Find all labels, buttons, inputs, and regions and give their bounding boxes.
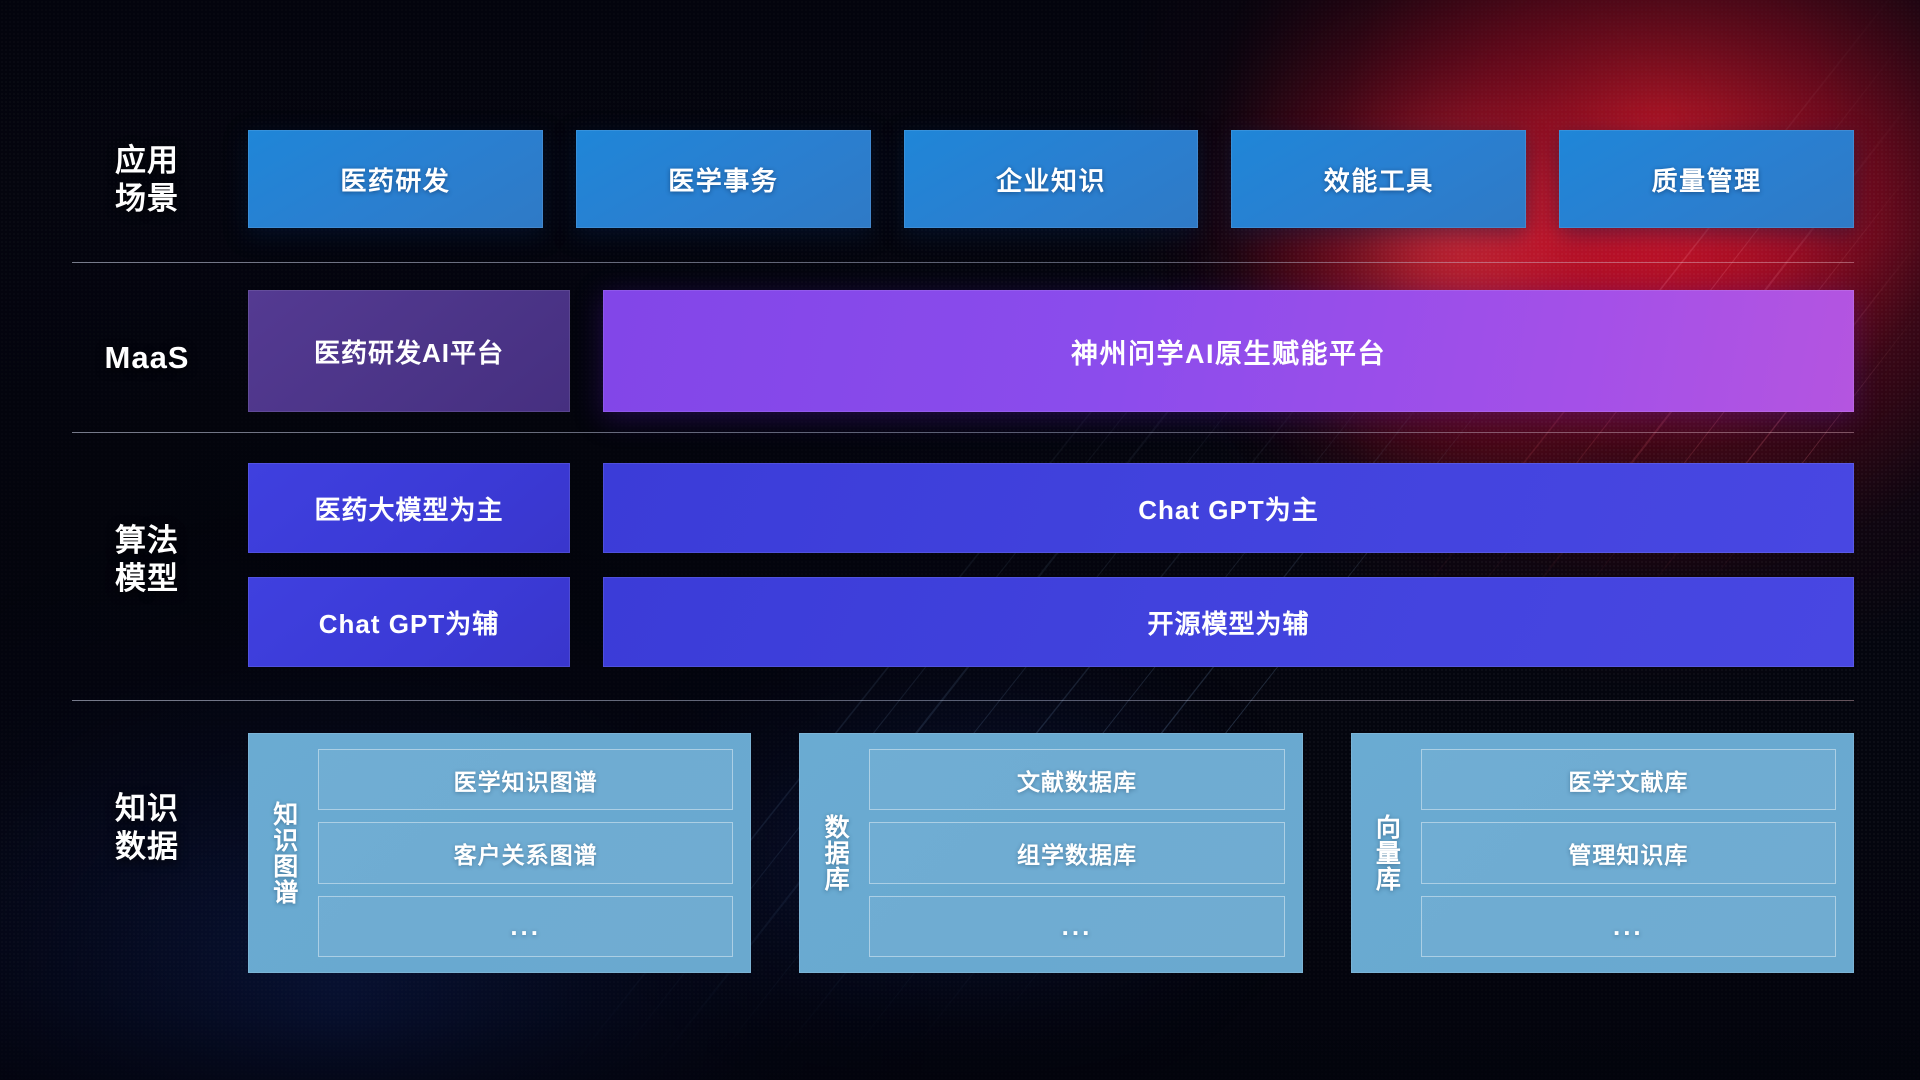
knowledge-item-omics-database[interactable]: 组学数据库 [869, 822, 1284, 883]
algo-card-opensource-secondary[interactable]: 开源模型为辅 [603, 577, 1854, 667]
knowledge-group-item-list: 文献数据库 组学数据库 ... [869, 749, 1284, 957]
knowledge-group-title: 数据库 [813, 749, 855, 957]
scene-card-label: 医药研发 [340, 161, 450, 198]
knowledge-group-knowledge-graph[interactable]: 知识图谱 医学知识图谱 客户关系图谱 ... [248, 733, 751, 973]
knowledge-item-label: 文献数据库 [1017, 763, 1137, 797]
knowledge-group-vector-store[interactable]: 向量库 医学文献库 管理知识库 ... [1351, 733, 1854, 973]
tier-label-maas: MaaS [72, 323, 232, 393]
scene-card-label: 企业知识 [996, 161, 1106, 198]
knowledge-item-more[interactable]: ... [869, 896, 1284, 957]
algo-card-label: Chat GPT为辅 [319, 604, 499, 641]
algorithm-model-label: 算法 模型 [72, 522, 222, 598]
algo-card-label: 开源模型为辅 [1147, 604, 1309, 641]
algorithm-model-row-primary: 医药大模型为主 Chat GPT为主 [248, 463, 1854, 553]
knowledge-item-label: 医学文献库 [1568, 763, 1688, 797]
knowledge-item-management-knowledge-store[interactable]: 管理知识库 [1421, 822, 1836, 883]
knowledge-item-label: 客户关系图谱 [454, 836, 598, 870]
knowledge-item-literature-database[interactable]: 文献数据库 [869, 749, 1284, 810]
knowledge-item-medical-literature-store[interactable]: 医学文献库 [1421, 749, 1836, 810]
knowledge-data-track: 知识图谱 医学知识图谱 客户关系图谱 ... 数据库 文献数据库 [248, 733, 1854, 973]
tier-label-application-scenario: 应用 场景 [72, 125, 232, 235]
scene-card-label: 质量管理 [1652, 161, 1762, 198]
scene-card-medical-affairs[interactable]: 医学事务 [576, 130, 871, 228]
maas-card-shenzhou-wenxue-platform[interactable]: 神州问学AI原生赋能平台 [603, 290, 1854, 412]
scene-card-efficiency-tools[interactable]: 效能工具 [1231, 130, 1526, 228]
maas-label: MaaS [72, 339, 222, 377]
divider-after-maas [72, 432, 1854, 433]
application-scenario-label: 应用 场景 [72, 142, 222, 218]
scene-card-medicine-rd[interactable]: 医药研发 [248, 130, 543, 228]
algo-card-medicine-llm-primary[interactable]: 医药大模型为主 [248, 463, 570, 553]
knowledge-item-label: ... [1062, 911, 1093, 942]
knowledge-item-medical-knowledge-graph[interactable]: 医学知识图谱 [318, 749, 733, 810]
knowledge-group-database[interactable]: 数据库 文献数据库 组学数据库 ... [799, 733, 1302, 973]
algo-card-label: Chat GPT为主 [1138, 490, 1318, 527]
scene-card-quality-management[interactable]: 质量管理 [1559, 130, 1854, 228]
tier-label-knowledge-data: 知识 数据 [72, 773, 232, 883]
knowledge-group-title: 向量库 [1365, 749, 1407, 957]
algorithm-model-row-secondary: Chat GPT为辅 开源模型为辅 [248, 577, 1854, 667]
knowledge-item-label: 医学知识图谱 [454, 763, 598, 797]
application-scenario-card-track: 医药研发 医学事务 企业知识 效能工具 质量管理 [248, 130, 1854, 228]
tier-label-algorithm-model: 算法 模型 [72, 505, 232, 615]
maas-track: 医药研发AI平台 神州问学AI原生赋能平台 [248, 290, 1854, 412]
divider-after-application-scenario [72, 262, 1854, 263]
knowledge-group-item-list: 医学知识图谱 客户关系图谱 ... [318, 749, 733, 957]
knowledge-item-more[interactable]: ... [1421, 896, 1836, 957]
scene-card-label: 效能工具 [1324, 161, 1434, 198]
algo-card-label: 医药大模型为主 [314, 490, 503, 527]
algorithm-model-track: 医药大模型为主 Chat GPT为主 Chat GPT为辅 开源模型为辅 [248, 463, 1854, 667]
knowledge-group-title: 知识图谱 [262, 749, 304, 957]
knowledge-item-label: ... [1613, 911, 1644, 942]
knowledge-item-label: ... [510, 911, 541, 942]
maas-card-label: 医药研发AI平台 [314, 333, 504, 370]
knowledge-item-customer-relation-graph[interactable]: 客户关系图谱 [318, 822, 733, 883]
scene-card-enterprise-knowledge[interactable]: 企业知识 [904, 130, 1199, 228]
maas-card-label: 神州问学AI原生赋能平台 [1071, 332, 1386, 371]
algo-card-chatgpt-secondary[interactable]: Chat GPT为辅 [248, 577, 570, 667]
knowledge-group-item-list: 医学文献库 管理知识库 ... [1421, 749, 1836, 957]
knowledge-item-more[interactable]: ... [318, 896, 733, 957]
knowledge-data-label: 知识 数据 [72, 790, 222, 866]
knowledge-item-label: 组学数据库 [1017, 836, 1137, 870]
algo-card-chatgpt-primary[interactable]: Chat GPT为主 [603, 463, 1854, 553]
scene-card-label: 医学事务 [668, 161, 778, 198]
maas-card-medicine-ai-platform[interactable]: 医药研发AI平台 [248, 290, 570, 412]
knowledge-item-label: 管理知识库 [1568, 836, 1688, 870]
divider-after-algorithm-model [72, 700, 1854, 701]
